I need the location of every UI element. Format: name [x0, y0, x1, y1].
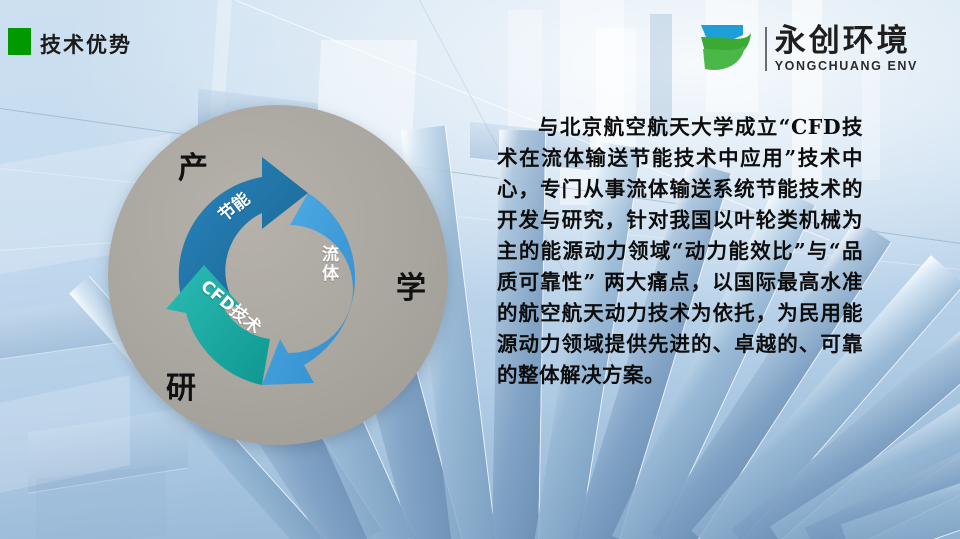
logo-wordmark: 永创环境 YONGCHUANG ENV	[775, 26, 918, 73]
arrow-segment-liuti	[262, 193, 355, 385]
slide-canvas: 技术优势 永创环境 YONGCHUANG ENV 产 学 研	[0, 0, 960, 539]
page-title: 技术优势	[40, 29, 132, 59]
three-arrow-cycle: 节能 流体 CFD技术	[158, 153, 402, 397]
arrow-label-liuti: 流体	[316, 245, 341, 283]
bg-tile	[36, 465, 166, 539]
logo-name-en: YONGCHUANG ENV	[775, 60, 918, 73]
yongchuang-leaf-icon	[699, 23, 757, 75]
logo-divider	[765, 27, 767, 71]
body-paragraph: 与北京航空航天大学成立“CFD技术在流体输送节能技术中应用”技术中心，专门从事流…	[497, 112, 863, 391]
logo-name-cn: 永创环境	[775, 26, 918, 57]
company-logo: 永创环境 YONGCHUANG ENV	[699, 23, 918, 75]
section-marker-square	[8, 28, 31, 55]
cycle-diagram: 产 学 研	[108, 105, 448, 445]
